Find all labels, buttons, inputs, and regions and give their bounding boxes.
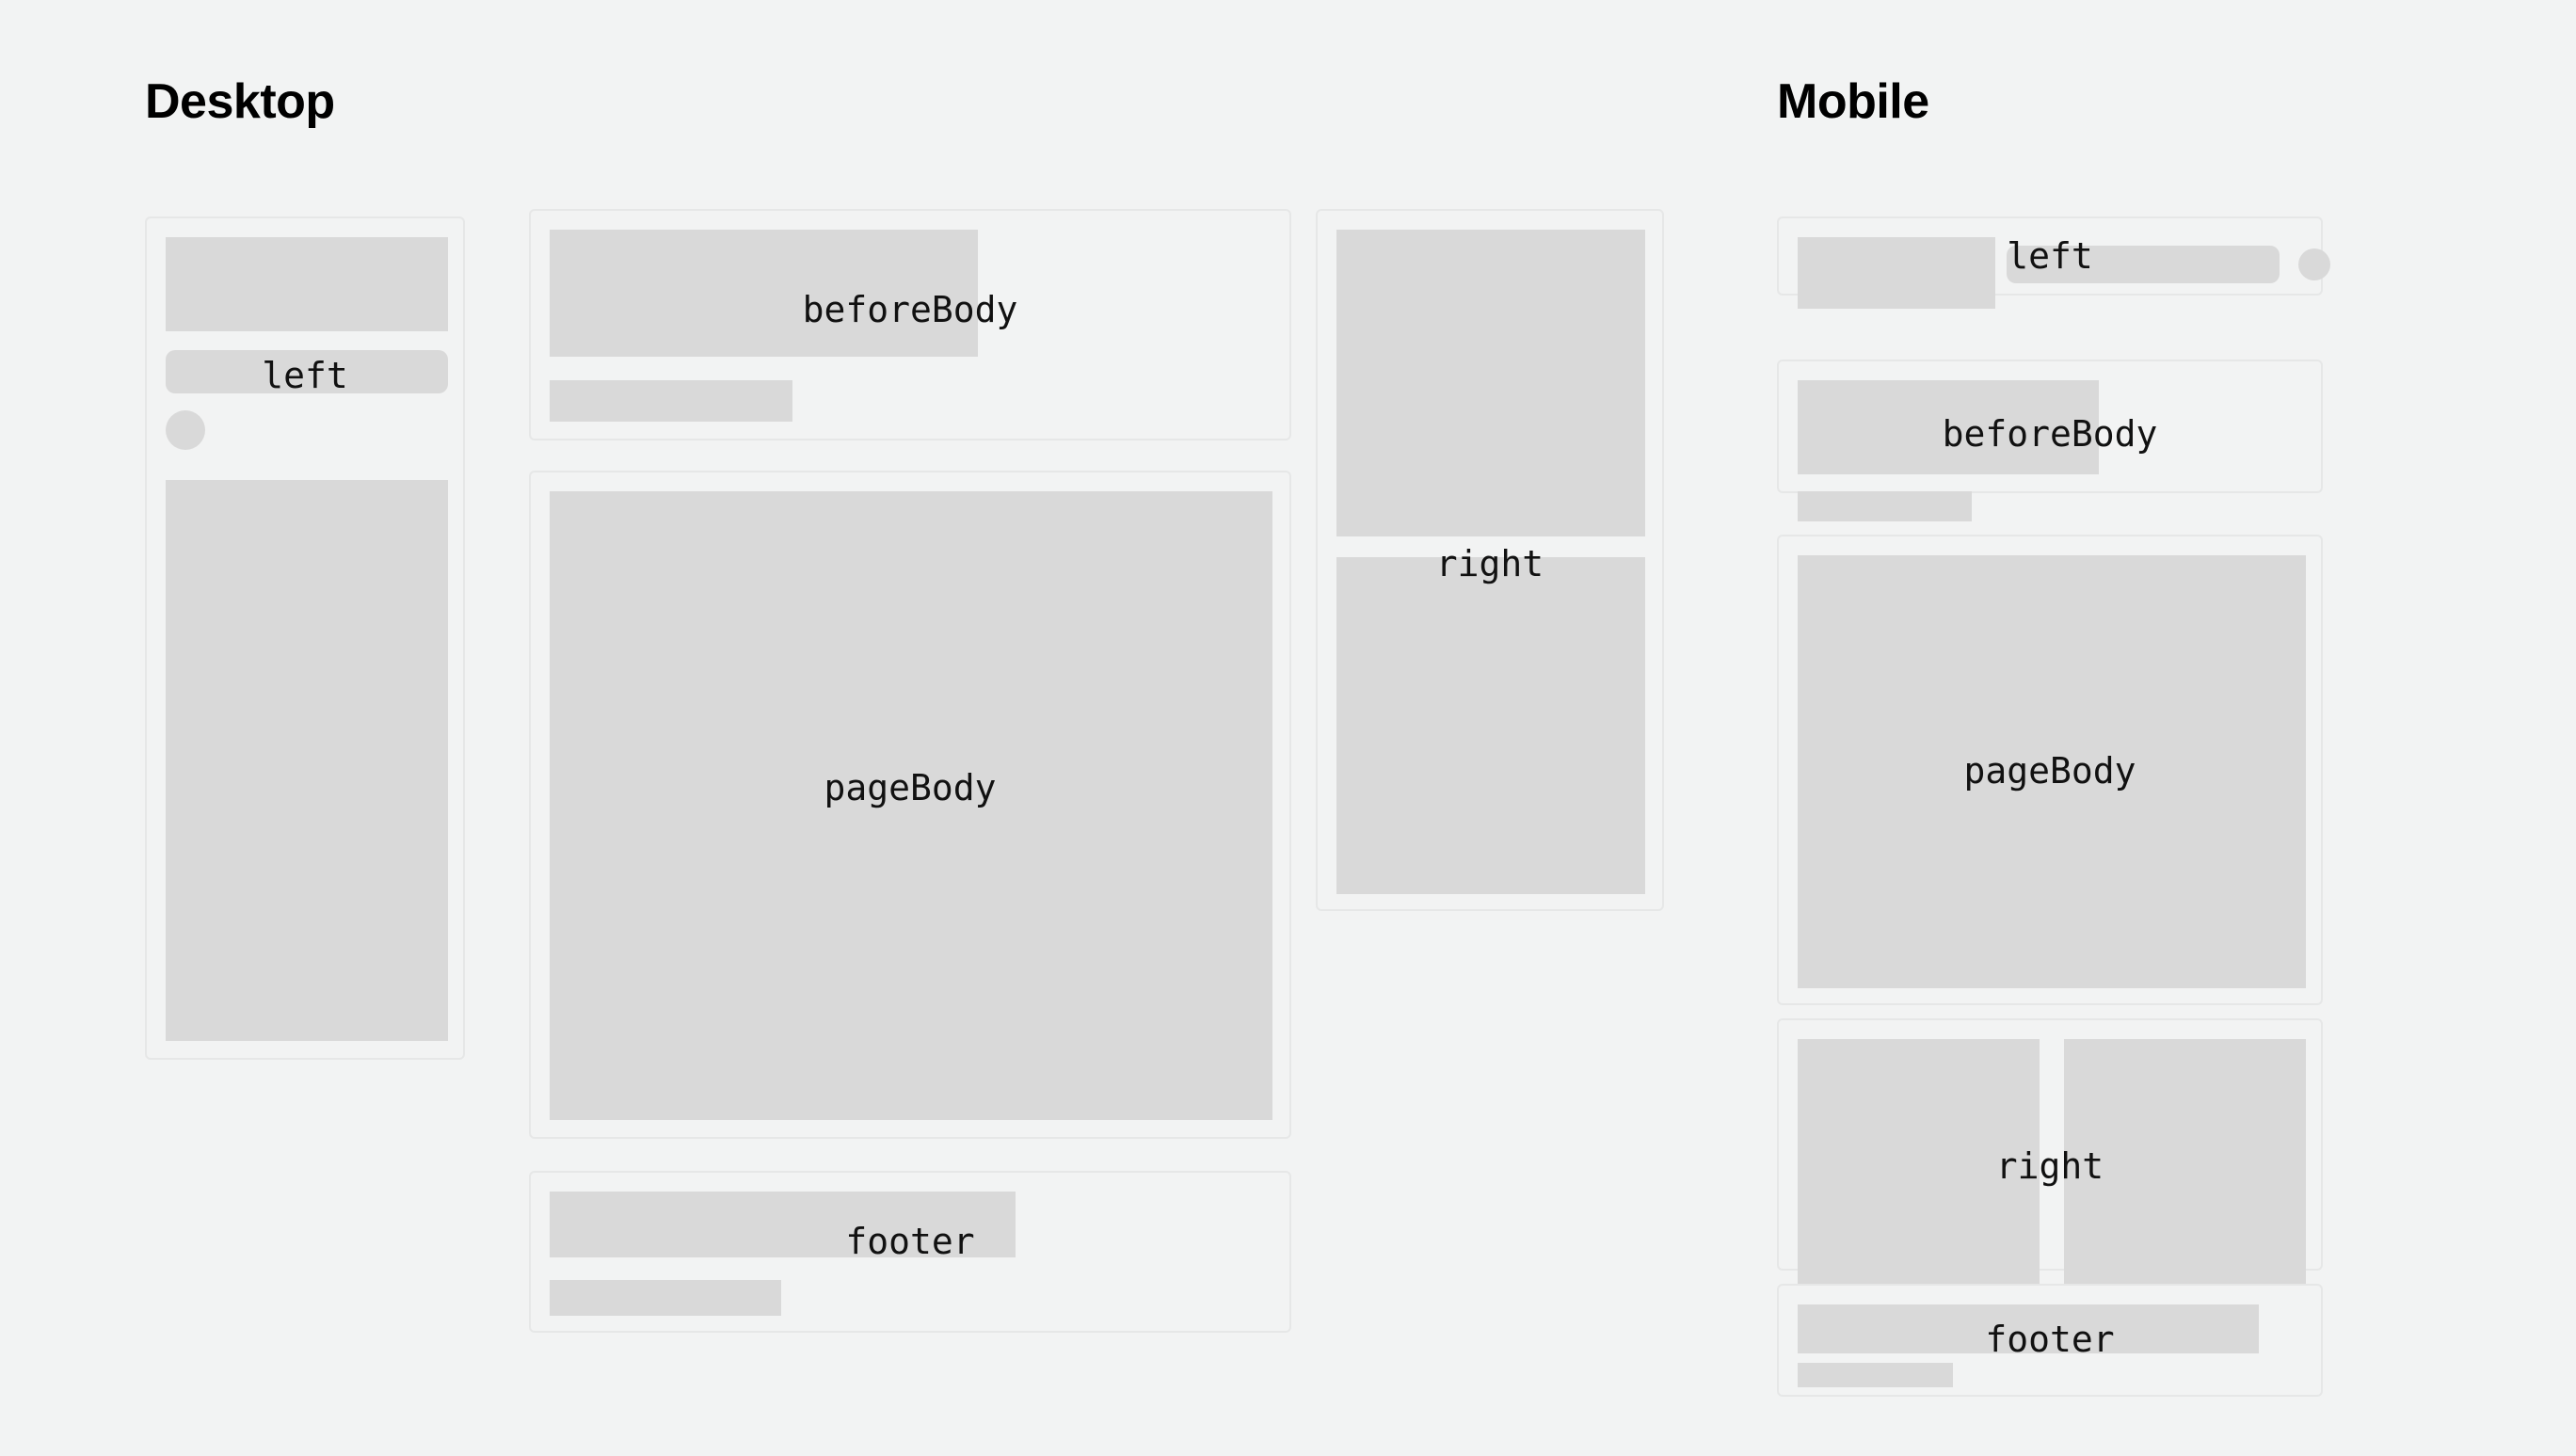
skeleton-block-header xyxy=(1798,237,1995,309)
skeleton-avatar-circle xyxy=(166,410,205,450)
skeleton-block-line xyxy=(550,380,792,422)
skeleton-block-header xyxy=(166,237,448,331)
mobile-right-panel[interactable] xyxy=(1777,1018,2323,1271)
skeleton-avatar-circle xyxy=(2298,248,2330,280)
skeleton-block-main xyxy=(1798,555,2306,988)
skeleton-block-main xyxy=(550,491,1272,1120)
skeleton-block-line xyxy=(550,1280,781,1316)
skeleton-block-hero xyxy=(1798,380,2099,474)
skeleton-block-line xyxy=(1798,1363,1953,1387)
desktop-page-body-panel[interactable] xyxy=(529,471,1291,1139)
desktop-before-body-panel[interactable] xyxy=(529,209,1291,440)
skeleton-block-hero xyxy=(550,230,978,357)
desktop-right-panel[interactable] xyxy=(1316,209,1664,911)
wireframe-stage: Desktop left beforeBody pageBody footer … xyxy=(0,0,2576,1456)
skeleton-bar xyxy=(2007,246,2280,283)
skeleton-block-bottom xyxy=(1336,557,1645,894)
skeleton-block-body xyxy=(166,480,448,1041)
skeleton-block-top xyxy=(1336,230,1645,536)
desktop-left-panel[interactable] xyxy=(145,216,465,1060)
mobile-left-panel[interactable] xyxy=(1777,216,2323,296)
skeleton-bar xyxy=(166,350,448,393)
skeleton-block-line xyxy=(1798,491,1972,521)
desktop-footer-panel[interactable] xyxy=(529,1171,1291,1333)
mobile-before-body-panel[interactable] xyxy=(1777,360,2323,493)
desktop-section-title: Desktop xyxy=(145,77,335,126)
skeleton-block-right xyxy=(2064,1039,2306,1284)
mobile-footer-panel[interactable] xyxy=(1777,1284,2323,1397)
mobile-page-body-panel[interactable] xyxy=(1777,535,2323,1005)
mobile-section-title: Mobile xyxy=(1777,77,1929,126)
skeleton-block-hero xyxy=(1798,1304,2259,1353)
skeleton-block-hero xyxy=(550,1192,1016,1257)
skeleton-block-left xyxy=(1798,1039,2040,1284)
